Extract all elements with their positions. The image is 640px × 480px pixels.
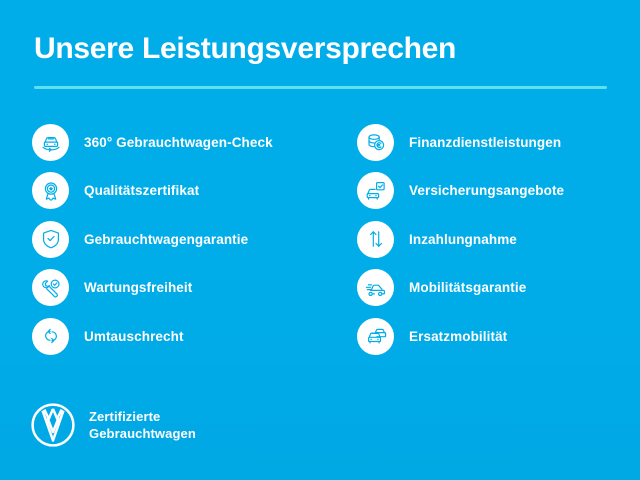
feature-item-ersatzmobilitaet[interactable]: Ersatzmobilität xyxy=(357,312,640,361)
features-column-right: Finanzdienstleistungen Versicherungsange… xyxy=(330,118,640,361)
feature-label: Umtauschrecht xyxy=(84,329,184,344)
feature-item-wartungsfreiheit[interactable]: Wartungsfreiheit xyxy=(32,264,330,313)
brand-text: Zertifizierte Gebrauchtwagen xyxy=(89,408,196,442)
feature-item-gebrauchtwagengarantie[interactable]: Gebrauchtwagengarantie xyxy=(32,215,330,264)
brand-text-line1: Zertifizierte xyxy=(89,408,196,425)
wrench-check-icon xyxy=(32,269,69,306)
feature-item-finanzdienstleistungen[interactable]: Finanzdienstleistungen xyxy=(357,118,640,167)
feature-item-mobilitaetsgarantie[interactable]: Mobilitätsgarantie xyxy=(357,264,640,313)
feature-label: Wartungsfreiheit xyxy=(84,280,192,295)
car-document-check-icon xyxy=(357,172,394,209)
exchange-arrows-icon xyxy=(32,318,69,355)
feature-label: Ersatzmobilität xyxy=(409,329,507,344)
feature-item-qualitaetszertifikat[interactable]: Qualitätszertifikat xyxy=(32,167,330,216)
feature-item-versicherungsangebote[interactable]: Versicherungsangebote xyxy=(357,167,640,216)
feature-label: Inzahlungnahme xyxy=(409,232,517,247)
volkswagen-logo xyxy=(30,402,76,448)
feature-label: Versicherungsangebote xyxy=(409,183,564,198)
feature-label: 360° Gebrauchtwagen-Check xyxy=(84,135,273,150)
shield-check-icon xyxy=(32,221,69,258)
feature-label: Gebrauchtwagengarantie xyxy=(84,232,248,247)
brand-text-line2: Gebrauchtwagen xyxy=(89,425,196,442)
feature-label: Finanzdienstleistungen xyxy=(409,135,561,150)
car-360-check-icon xyxy=(32,124,69,161)
title-divider xyxy=(34,86,607,89)
feature-label: Mobilitätsgarantie xyxy=(409,280,526,295)
award-rosette-icon xyxy=(32,172,69,209)
promise-panel: Unsere Leistungsversprechen 360° Ge xyxy=(0,0,640,480)
coins-euro-icon xyxy=(357,124,394,161)
page-title: Unsere Leistungsversprechen xyxy=(34,32,456,66)
two-cars-icon xyxy=(357,318,394,355)
feature-item-inzahlungnahme[interactable]: Inzahlungnahme xyxy=(357,215,640,264)
feature-item-gebrauchtwagen-check[interactable]: 360° Gebrauchtwagen-Check xyxy=(32,118,330,167)
arrows-up-down-icon xyxy=(357,221,394,258)
feature-item-umtauschrecht[interactable]: Umtauschrecht xyxy=(32,312,330,361)
features-grid: 360° Gebrauchtwagen-Check Qualitätszerti… xyxy=(0,118,640,361)
brand-lockup: Zertifizierte Gebrauchtwagen xyxy=(30,402,196,448)
features-column-left: 360° Gebrauchtwagen-Check Qualitätszerti… xyxy=(0,118,330,361)
feature-label: Qualitätszertifikat xyxy=(84,183,199,198)
car-motion-icon xyxy=(357,269,394,306)
